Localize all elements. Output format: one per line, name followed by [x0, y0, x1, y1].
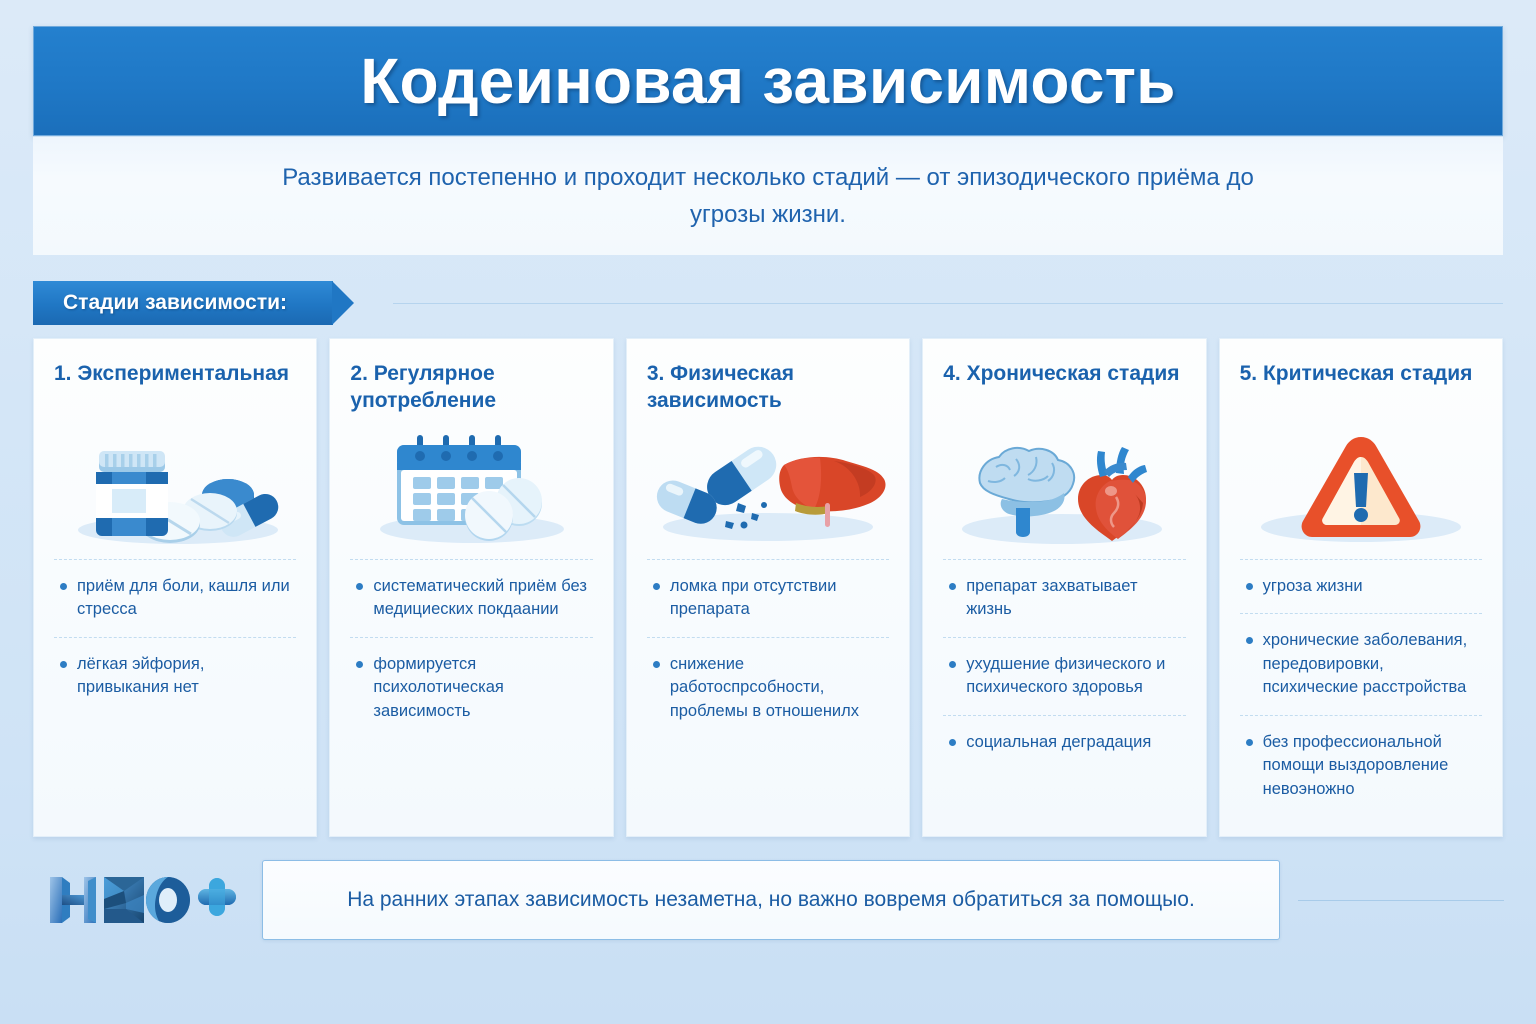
page-footer: На ранних этапах зависимость незаметна, … — [0, 855, 1536, 965]
bullet-text: хронические заболевания, передовировки, … — [1263, 629, 1482, 699]
bullet-item: угроза жизни — [1240, 560, 1482, 613]
bullet-text: социальная деградация — [966, 731, 1151, 754]
footer-divider-line — [1298, 900, 1504, 901]
stage-card-5[interactable]: 5. Критическая стадия угроза жизни хрони… — [1219, 338, 1503, 837]
bullet-text: приём для боли, кашля или стресса — [77, 575, 296, 622]
calendar-pills-icon — [350, 423, 592, 547]
page-title: Кодеиновая зависимость — [360, 49, 1175, 113]
bullet-dot-icon — [356, 583, 363, 590]
stage-bullet-list: систематический приём без медициеских по… — [350, 559, 592, 738]
bullet-text: препарат захватывает жизнь — [966, 575, 1185, 622]
bullet-text: ухудшение физического и психического здо… — [966, 653, 1185, 700]
bullet-item: препарат захватывает жизнь — [943, 560, 1185, 637]
stage-bullet-list: угроза жизни хронические заболевания, пе… — [1240, 559, 1482, 816]
bullet-text: снижение работоспрсобности, проблемы в о… — [670, 653, 889, 723]
bullet-dot-icon — [60, 583, 67, 590]
footer-note-text: На ранних этапах зависимость незаметна, … — [347, 886, 1195, 914]
page-header-band: Кодеиновая зависимость — [33, 26, 1503, 136]
bullet-text: без профессиональной помощи выздоровлени… — [1263, 731, 1482, 801]
bullet-item: ломка при отсутствии препарата — [647, 560, 889, 637]
bullet-item: формируется психолотическая зависимость — [350, 638, 592, 738]
bullet-item: снижение работоспрсобности, проблемы в о… — [647, 638, 889, 738]
stage-card-title: 1. Экспериментальная — [54, 361, 296, 417]
section-divider-line — [393, 303, 1503, 304]
bullet-text: ломка при отсутствии препарата — [670, 575, 889, 622]
bullet-text: лёгкая эйфория, привыкания нет — [77, 653, 296, 700]
footer-note-box: На ранних этапах зависимость незаметна, … — [262, 860, 1280, 940]
bullet-item: ухудшение физического и психического здо… — [943, 638, 1185, 715]
bullet-item: социальная деградация — [943, 716, 1185, 769]
bullet-dot-icon — [949, 661, 956, 668]
capsule-liver-icon — [647, 423, 889, 547]
stage-card-title: 2. Регулярное употребление — [350, 361, 592, 417]
bullet-dot-icon — [949, 739, 956, 746]
neo-plus-logo — [48, 869, 238, 931]
bullet-dot-icon — [653, 583, 660, 590]
stage-card-title: 5. Критическая стадия — [1240, 361, 1482, 417]
stage-card-3[interactable]: 3. Физическая зависимость — [626, 338, 910, 837]
bullet-dot-icon — [356, 661, 363, 668]
stage-card-1[interactable]: 1. Экспериментальная — [33, 338, 317, 837]
bullet-item: хронические заболевания, передовировки, … — [1240, 614, 1482, 714]
bullet-item: приём для боли, кашля или стресса — [54, 560, 296, 637]
stage-bullet-list: приём для боли, кашля или стресса лёгкая… — [54, 559, 296, 715]
bullet-item: систематический приём без медициеских по… — [350, 560, 592, 637]
bullet-dot-icon — [653, 661, 660, 668]
stage-bullet-list: препарат захватывает жизнь ухудшение физ… — [943, 559, 1185, 769]
bullet-text: систематический приём без медициеских по… — [373, 575, 592, 622]
bullet-text: угроза жизни — [1263, 575, 1363, 598]
stage-card-4[interactable]: 4. Хроническая стадия — [922, 338, 1206, 837]
stage-card-2[interactable]: 2. Регулярное употребление — [329, 338, 613, 837]
section-ribbon-label: Стадии зависимости: — [63, 291, 287, 315]
bullet-dot-icon — [949, 583, 956, 590]
stage-card-title: 3. Физическая зависимость — [647, 361, 889, 417]
bullet-dot-icon — [1246, 583, 1253, 590]
stage-card-title: 4. Хроническая стадия — [943, 361, 1185, 417]
warning-triangle-icon — [1240, 423, 1482, 547]
bullet-item: лёгкая эйфория, привыкания нет — [54, 638, 296, 715]
bullet-dot-icon — [60, 661, 67, 668]
brain-heart-icon — [943, 423, 1185, 547]
bullet-text: формируется психолотическая зависимость — [373, 653, 592, 723]
section-ribbon-wrapper: Стадии зависимости: — [33, 281, 333, 325]
stage-card-row: 1. Экспериментальная — [33, 338, 1503, 837]
page-subtitle: Развивается постепенно и проходит нескол… — [248, 159, 1288, 233]
bullet-dot-icon — [1246, 637, 1253, 644]
bullet-dot-icon — [1246, 739, 1253, 746]
stage-bullet-list: ломка при отсутствии препарата снижение … — [647, 559, 889, 738]
pill-bottle-icon — [54, 423, 296, 547]
subtitle-panel: Развивается постепенно и проходит нескол… — [33, 136, 1503, 255]
bullet-item: без профессиональной помощи выздоровлени… — [1240, 716, 1482, 816]
section-ribbon: Стадии зависимости: — [33, 281, 333, 325]
